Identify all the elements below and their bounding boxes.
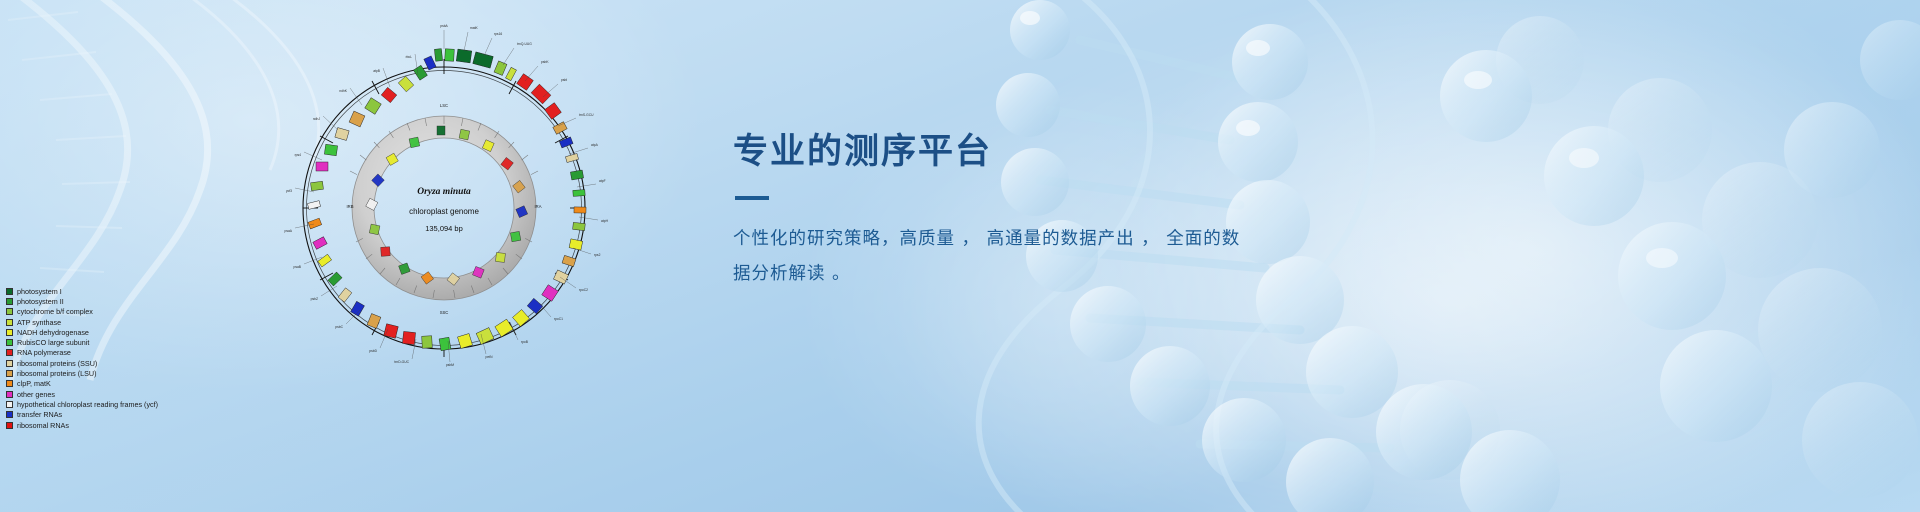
legend-item-label: other genes (17, 390, 55, 399)
svg-text:rpoC1: rpoC1 (554, 317, 563, 321)
legend-item: transfer RNAs (6, 410, 158, 420)
svg-text:psbC: psbC (335, 325, 343, 329)
svg-text:psbZ: psbZ (311, 297, 318, 301)
svg-text:rbcL: rbcL (406, 55, 413, 59)
legend-item: ATP synthase (6, 317, 158, 327)
legend-item: ribosomal RNAs (6, 420, 158, 430)
legend-item-label: NADH dehydrogenase (17, 328, 89, 337)
title-divider (735, 196, 769, 200)
legend-color-swatch (6, 380, 13, 387)
legend-color-swatch (6, 370, 13, 377)
legend-item-label: hypothetical chloroplast reading frames … (17, 400, 158, 409)
genome-organism-name: Oryza minuta (417, 187, 471, 197)
genome-size: 135,094 bp (425, 224, 463, 233)
svg-text:petN: petN (486, 355, 494, 359)
svg-text:rpoC2: rpoC2 (579, 288, 588, 292)
legend-item-label: cytochrome b/f complex (17, 307, 93, 316)
legend-item: photosystem II (6, 296, 158, 306)
banner-description: 个性化的研究策略，高质量 ， 高通量的数据产出 ， 全面的数据分析解读 。 (733, 222, 1253, 292)
svg-text:psbA: psbA (440, 24, 448, 28)
svg-text:IRA: IRA (535, 204, 542, 209)
svg-text:atpB: atpB (373, 69, 381, 73)
genome-map-svg: psbA matK rps16 trnQ-UUG psbK psbI trnS-… (238, 2, 650, 414)
legend-color-swatch (6, 308, 13, 315)
svg-text:psaA: psaA (284, 229, 292, 233)
svg-text:psbD: psbD (369, 349, 377, 353)
svg-text:psaB: psaB (293, 265, 301, 269)
svg-text:SSC: SSC (440, 310, 449, 315)
svg-text:matK: matK (470, 26, 478, 30)
svg-text:psbI: psbI (561, 78, 567, 82)
svg-text:rps16: rps16 (494, 32, 502, 36)
legend-item-label: ATP synthase (17, 318, 61, 327)
svg-text:atpA: atpA (591, 143, 599, 147)
svg-text:psbK: psbK (541, 60, 549, 64)
legend-color-swatch (6, 339, 13, 346)
svg-text:atpH: atpH (601, 219, 609, 223)
banner-content: 专业的测序平台 个性化的研究策略，高质量 ， 高通量的数据产出 ， 全面的数据分… (733, 132, 1433, 292)
legend-color-swatch (6, 401, 13, 408)
legend-item: hypothetical chloroplast reading frames … (6, 399, 158, 409)
legend-item-label: ribosomal proteins (LSU) (17, 369, 97, 378)
legend-item-label: ribosomal proteins (SSU) (17, 359, 97, 368)
legend-item: RubisCO large subunit (6, 337, 158, 347)
chloroplast-genome-map: psbA matK rps16 trnQ-UUG psbK psbI trnS-… (238, 2, 650, 414)
legend-item: ribosomal proteins (LSU) (6, 368, 158, 378)
legend-item: NADH dehydrogenase (6, 327, 158, 337)
legend-item-label: photosystem I (17, 287, 62, 296)
legend-item-label: ribosomal RNAs (17, 421, 69, 430)
svg-text:LSC: LSC (440, 103, 448, 108)
svg-text:IRB: IRB (347, 204, 354, 209)
page-title: 专业的测序平台 (733, 132, 1433, 172)
svg-text:trnS-GCU: trnS-GCU (579, 113, 594, 117)
legend-color-swatch (6, 349, 13, 356)
svg-text:ndhJ: ndhJ (313, 117, 321, 121)
legend-item-label: transfer RNAs (17, 410, 62, 419)
legend-color-swatch (6, 319, 13, 326)
legend-color-swatch (6, 411, 13, 418)
legend-item-label: RNA polymerase (17, 348, 71, 357)
legend-item: other genes (6, 389, 158, 399)
svg-text:psbM: psbM (446, 363, 454, 367)
legend-item: ribosomal proteins (SSU) (6, 358, 158, 368)
legend-item: cytochrome b/f complex (6, 307, 158, 317)
svg-text:trnQ-UUG: trnQ-UUG (517, 42, 532, 46)
legend-item-label: RubisCO large subunit (17, 338, 89, 347)
legend-item: photosystem I (6, 286, 158, 296)
legend-color-swatch (6, 329, 13, 336)
svg-text:rpoB: rpoB (521, 340, 529, 344)
legend-item-label: photosystem II (17, 297, 64, 306)
svg-text:rps2: rps2 (594, 253, 601, 257)
legend-color-swatch (6, 391, 13, 398)
genome-legend: photosystem Iphotosystem IIcytochrome b/… (6, 286, 158, 430)
legend-color-swatch (6, 288, 13, 295)
legend-item: RNA polymerase (6, 348, 158, 358)
svg-text:rps4: rps4 (295, 153, 302, 157)
legend-item-label: clpP, matK (17, 379, 51, 388)
legend-color-swatch (6, 360, 13, 367)
svg-text:trnD-GUC: trnD-GUC (394, 360, 409, 364)
legend-item: clpP, matK (6, 379, 158, 389)
genome-subtitle: chloroplast genome (409, 207, 479, 216)
svg-text:ycf3: ycf3 (286, 189, 292, 193)
svg-text:ndhK: ndhK (339, 89, 348, 93)
legend-color-swatch (6, 422, 13, 429)
svg-text:atpF: atpF (599, 179, 606, 183)
legend-color-swatch (6, 298, 13, 305)
